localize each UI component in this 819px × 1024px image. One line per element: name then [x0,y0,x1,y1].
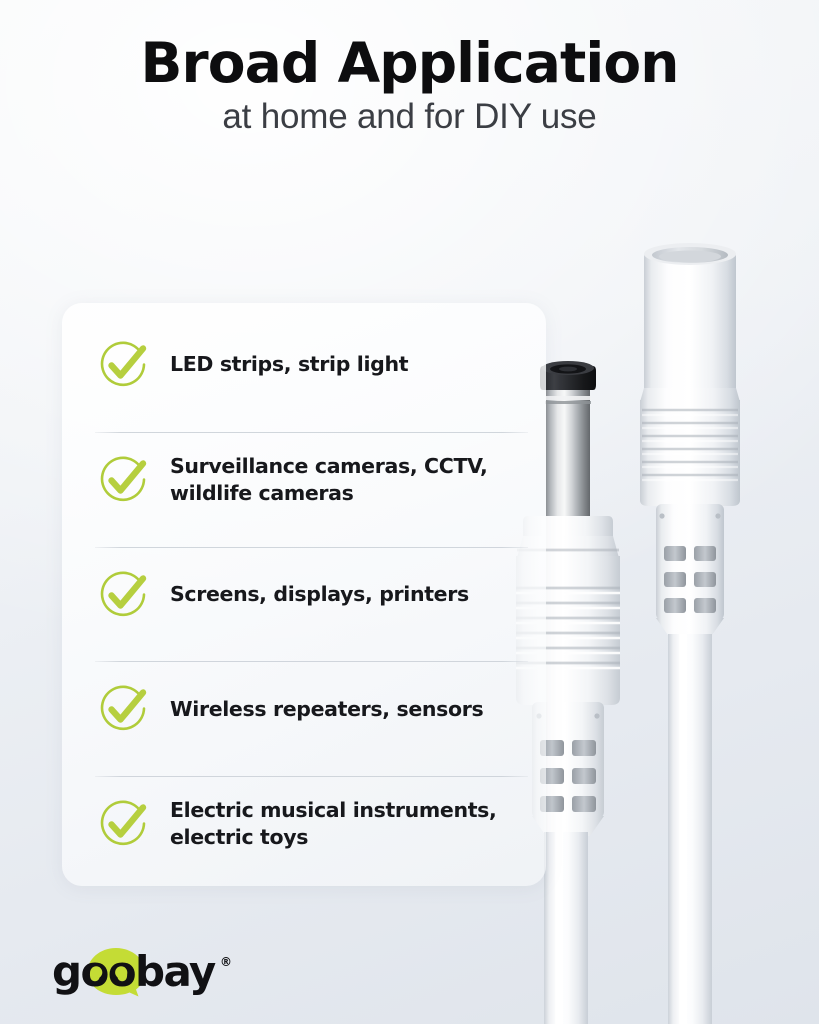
check-circle-icon [96,796,152,852]
check-circle-icon [96,337,152,393]
feature-item: Surveillance cameras, CCTV, wildlife cam… [62,432,546,528]
registered-mark: ® [220,955,232,969]
cable-left [544,832,588,1024]
dc-socket-female [640,243,740,638]
feature-label: Surveillance cameras, CCTV, wildlife cam… [170,453,524,508]
marketing-image-canvas: Broad Application at home and for DIY us… [0,0,819,1024]
cable-right [668,634,712,1024]
feature-item: Screens, displays, printers [62,547,546,643]
page-subtitle: at home and for DIY use [0,98,819,137]
features-card: LED strips, strip light Surveillance cam… [62,303,546,886]
check-circle-icon [96,567,152,623]
feature-label: Electric musical instruments, electric t… [170,797,524,852]
logo-wordmark: goobay [52,947,216,996]
check-circle-icon [96,452,152,508]
goobay-logo: goobay ® [52,944,252,998]
feature-item: LED strips, strip light [62,317,546,413]
header: Broad Application at home and for DIY us… [0,0,819,137]
feature-label: LED strips, strip light [170,351,408,378]
feature-label: Screens, displays, printers [170,581,469,608]
feature-label: Wireless repeaters, sensors [170,696,483,723]
feature-item: Wireless repeaters, sensors [62,661,546,757]
check-circle-icon [96,681,152,737]
feature-item: Electric musical instruments, electric t… [62,776,546,872]
page-title: Broad Application [0,34,819,92]
